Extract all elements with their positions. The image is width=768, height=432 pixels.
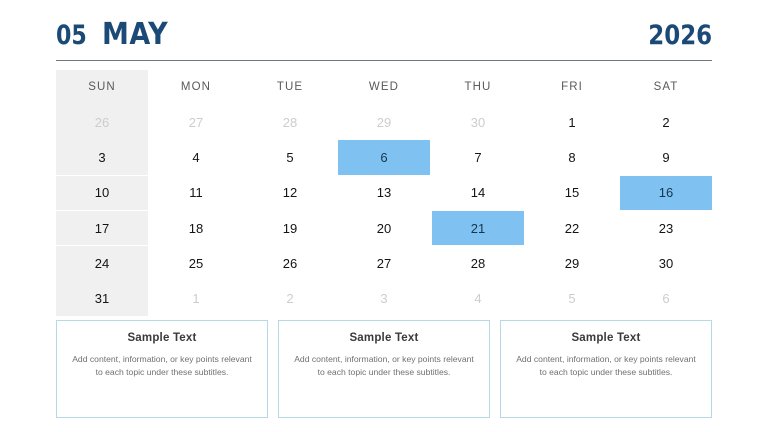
day-number: 8: [568, 150, 575, 165]
header-month-group: 05 MAY: [56, 20, 175, 50]
weekday-header-tue: TUE: [244, 70, 336, 105]
calendar-day-cell[interactable]: 17: [56, 211, 148, 246]
calendar-day-cell[interactable]: 28: [432, 246, 524, 281]
note-boxes: Sample Text Add content, information, or…: [56, 320, 712, 418]
note-box[interactable]: Sample Text Add content, information, or…: [500, 320, 712, 418]
calendar-week-row: 24252627282930: [56, 246, 712, 281]
weekday-header-wed: WED: [338, 70, 430, 105]
calendar-day-cell[interactable]: 20: [338, 211, 430, 246]
year-label: 2026: [648, 22, 712, 49]
weekday-header-sat: SAT: [620, 70, 712, 105]
day-number: 25: [189, 256, 203, 271]
calendar-day-cell[interactable]: 29: [526, 246, 618, 281]
day-number: 27: [189, 115, 203, 130]
calendar-day-cell[interactable]: 12: [244, 176, 336, 211]
calendar-day-cell[interactable]: 6: [620, 281, 712, 316]
calendar-week-row: 3456789: [56, 140, 712, 175]
calendar-day-cell[interactable]: 1: [526, 105, 618, 140]
calendar-page: 05 MAY 2026 SUN MON TUE WED THU FRI SAT …: [0, 0, 768, 432]
calendar-day-cell[interactable]: 2: [620, 105, 712, 140]
month-name: MAY: [102, 20, 168, 50]
calendar-week-row: 17181920212223: [56, 211, 712, 246]
calendar-day-cell[interactable]: 10: [56, 176, 148, 211]
calendar-day-cell[interactable]: 6: [338, 140, 430, 175]
calendar-day-cell[interactable]: 5: [244, 140, 336, 175]
day-number: 2: [286, 291, 293, 306]
day-number: 28: [283, 115, 297, 130]
day-number: 6: [380, 150, 387, 165]
day-number: 3: [98, 150, 105, 165]
calendar-day-cell[interactable]: 31: [56, 281, 148, 316]
day-number: 4: [192, 150, 199, 165]
day-number: 6: [662, 291, 669, 306]
calendar-day-cell[interactable]: 18: [150, 211, 242, 246]
calendar-day-cell[interactable]: 28: [244, 105, 336, 140]
calendar-day-cell[interactable]: 29: [338, 105, 430, 140]
calendar-day-cell[interactable]: 8: [526, 140, 618, 175]
note-body: Add content, information, or key points …: [71, 353, 253, 379]
day-number: 1: [192, 291, 199, 306]
day-number: 1: [568, 115, 575, 130]
calendar-day-cell[interactable]: 22: [526, 211, 618, 246]
calendar-day-cell[interactable]: 1: [150, 281, 242, 316]
day-number: 11: [189, 185, 203, 200]
calendar-day-cell[interactable]: 2: [244, 281, 336, 316]
calendar-day-cell[interactable]: 13: [338, 176, 430, 211]
calendar-day-cell[interactable]: 15: [526, 176, 618, 211]
calendar-day-cell[interactable]: 30: [432, 105, 524, 140]
header-divider: [56, 60, 712, 61]
day-number: 5: [286, 150, 293, 165]
day-number: 26: [283, 256, 297, 271]
day-number: 10: [95, 185, 109, 200]
day-number: 28: [471, 256, 485, 271]
day-number: 18: [189, 221, 203, 236]
day-number: 21: [471, 221, 485, 236]
day-number: 5: [568, 291, 575, 306]
day-number: 20: [377, 221, 391, 236]
weekday-header-row: SUN MON TUE WED THU FRI SAT: [56, 70, 712, 105]
calendar-day-cell[interactable]: 26: [244, 246, 336, 281]
calendar-grid: SUN MON TUE WED THU FRI SAT 262728293012…: [56, 70, 712, 316]
day-number: 7: [474, 150, 481, 165]
note-title: Sample Text: [293, 332, 475, 344]
calendar-day-cell[interactable]: 7: [432, 140, 524, 175]
note-title: Sample Text: [71, 332, 253, 344]
day-number: 31: [95, 291, 109, 306]
calendar-day-cell[interactable]: 3: [338, 281, 430, 316]
note-box[interactable]: Sample Text Add content, information, or…: [278, 320, 490, 418]
calendar-week-row: 31123456: [56, 281, 712, 316]
day-number: 16: [659, 185, 673, 200]
day-number: 4: [474, 291, 481, 306]
weekday-header-sun: SUN: [56, 70, 148, 105]
day-number: 29: [377, 115, 391, 130]
day-number: 19: [283, 221, 297, 236]
day-number: 23: [659, 221, 673, 236]
calendar-day-cell[interactable]: 25: [150, 246, 242, 281]
day-number: 2: [662, 115, 669, 130]
calendar-week-row: 10111213141516: [56, 176, 712, 211]
day-number: 22: [565, 221, 579, 236]
calendar-day-cell[interactable]: 9: [620, 140, 712, 175]
day-number: 29: [565, 256, 579, 271]
calendar-day-cell[interactable]: 14: [432, 176, 524, 211]
day-number: 3: [380, 291, 387, 306]
day-number: 26: [95, 115, 109, 130]
weekday-header-mon: MON: [150, 70, 242, 105]
day-number: 9: [662, 150, 669, 165]
calendar-day-cell[interactable]: 21: [432, 211, 524, 246]
day-number: 15: [565, 185, 579, 200]
calendar-day-cell[interactable]: 30: [620, 246, 712, 281]
calendar-day-cell[interactable]: 26: [56, 105, 148, 140]
day-number: 14: [471, 185, 485, 200]
calendar-week-row: 262728293012: [56, 105, 712, 140]
note-body: Add content, information, or key points …: [515, 353, 697, 379]
day-number: 30: [659, 256, 673, 271]
calendar-day-cell[interactable]: 11: [150, 176, 242, 211]
day-number: 24: [95, 256, 109, 271]
calendar-day-cell[interactable]: 4: [150, 140, 242, 175]
calendar-day-cell[interactable]: 5: [526, 281, 618, 316]
note-box[interactable]: Sample Text Add content, information, or…: [56, 320, 268, 418]
calendar-day-cell[interactable]: 27: [150, 105, 242, 140]
calendar-day-cell[interactable]: 16: [620, 176, 712, 211]
day-number: 30: [471, 115, 485, 130]
calendar-day-cell[interactable]: 19: [244, 211, 336, 246]
calendar-weeks: 2627282930123456789101112131415161718192…: [56, 105, 712, 316]
calendar-day-cell[interactable]: 23: [620, 211, 712, 246]
note-title: Sample Text: [515, 332, 697, 344]
month-number: 05: [56, 22, 87, 49]
calendar-day-cell[interactable]: 24: [56, 246, 148, 281]
calendar-day-cell[interactable]: 4: [432, 281, 524, 316]
day-number: 17: [95, 221, 109, 236]
calendar-day-cell[interactable]: 3: [56, 140, 148, 175]
calendar-day-cell[interactable]: 27: [338, 246, 430, 281]
day-number: 13: [377, 185, 391, 200]
weekday-header-thu: THU: [432, 70, 524, 105]
note-body: Add content, information, or key points …: [293, 353, 475, 379]
day-number: 27: [377, 256, 391, 271]
weekday-header-fri: FRI: [526, 70, 618, 105]
day-number: 12: [283, 185, 297, 200]
calendar-header: 05 MAY 2026: [56, 14, 712, 56]
